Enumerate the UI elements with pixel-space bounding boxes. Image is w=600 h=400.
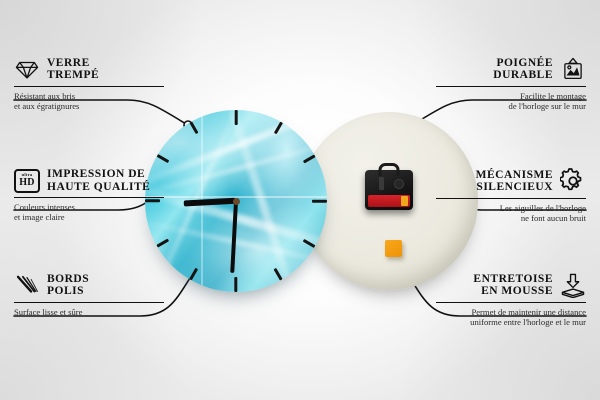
feature-title: ENTRETOISE EN MOUSSE [473, 273, 553, 298]
feature-description: Permet de maintenir une distance uniform… [436, 307, 586, 328]
feature-title: POIGNÉE DURABLE [493, 57, 553, 82]
feature-description: Les aiguilles de l'horloge ne font aucun… [436, 203, 586, 224]
feature-impression-haute-qualite[interactable]: ultra HD IMPRESSION DE HAUTE QUALITÉ Cou… [14, 168, 164, 223]
clock-tick [236, 200, 327, 203]
hanging-frame-icon [560, 56, 586, 82]
clock-mechanism [365, 170, 413, 210]
battery-terminal [401, 196, 408, 206]
hanging-loop [379, 163, 400, 176]
mechanism-shaft [379, 177, 384, 190]
divider [436, 302, 586, 303]
mechanism-dial [394, 179, 404, 189]
gear-icon [560, 168, 586, 194]
clock-front-view [145, 110, 327, 292]
feature-title: VERRE TREMPÉ [47, 57, 99, 82]
feature-bords-polis[interactable]: BORDS POLIS Surface lisse et sûre [14, 272, 164, 317]
clock-tick [235, 110, 238, 201]
feature-description: Résistant aux bris et aux égratignures [14, 91, 164, 112]
ultra-hd-icon: ultra HD [14, 169, 40, 193]
feature-title: MÉCANISME SILENCIEUX [476, 169, 553, 194]
feature-mecanisme-silencieux[interactable]: MÉCANISME SILENCIEUX Les aiguilles de l'… [436, 168, 586, 224]
divider [436, 198, 586, 199]
foam-spacer-icon [560, 272, 586, 298]
divider [14, 302, 164, 303]
feature-verre-trempe[interactable]: VERRE TREMPÉ Résistant aux bris et aux é… [14, 56, 164, 112]
clock-center-cap [233, 198, 240, 205]
divider [14, 197, 164, 198]
divider [436, 86, 586, 87]
divider [14, 86, 164, 87]
infographic-canvas: VERRE TREMPÉ Résistant aux bris et aux é… [0, 0, 600, 400]
polished-edges-icon [14, 272, 40, 298]
diamond-icon [14, 56, 40, 82]
feature-title: BORDS POLIS [47, 273, 89, 298]
feature-description: Couleurs intenses et image claire [14, 202, 164, 223]
battery [368, 195, 410, 207]
feature-description: Surface lisse et sûre [14, 307, 164, 317]
feature-title: IMPRESSION DE HAUTE QUALITÉ [47, 168, 150, 193]
feature-description: Facilite le montage de l'horloge sur le … [436, 91, 586, 112]
foam-spacer-pad [385, 240, 402, 257]
feature-entretoise-en-mousse[interactable]: ENTRETOISE EN MOUSSE Permet de maintenir… [436, 272, 586, 328]
feature-poignee-durable[interactable]: POIGNÉE DURABLE Facilite le montage de l… [436, 56, 586, 112]
